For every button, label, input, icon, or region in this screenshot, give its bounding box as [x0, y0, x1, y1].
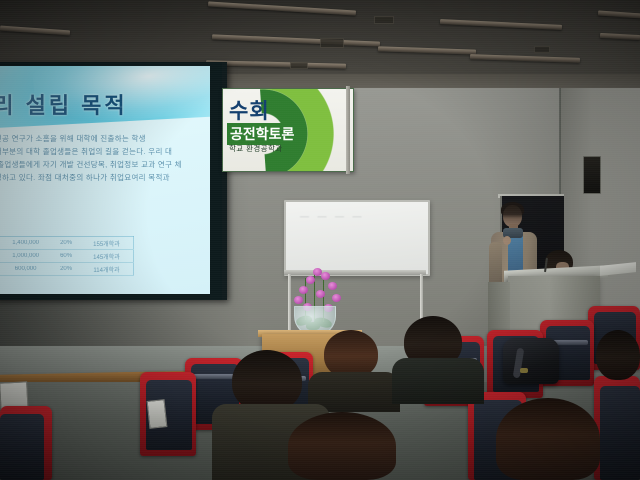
audience-head [496, 398, 600, 480]
table-cell: 60% [52, 250, 80, 263]
slide-body-line: 학과 전공 연구가 소홈을 위해 대학에 진출하는 학생 [0, 132, 210, 145]
presenter-hand [503, 236, 511, 245]
audience-head [288, 412, 396, 480]
table-row: 1,400,000 20% 155개학과 [0, 237, 134, 250]
orchid-flower [321, 272, 330, 280]
table-row: 1,000,000 60% 145개학과 [0, 250, 134, 263]
seat-writing-tablet[interactable] [147, 399, 168, 429]
slide-body-line: 로 운영하고 있다. 좌점 대처중의 하나가 취업요여리 목적과 [0, 171, 210, 184]
lecture-hall-photo: 아리 설립 목적 학과 전공 연구가 소홈을 위해 대학에 진출하는 학생 과는… [0, 0, 640, 480]
table-cell: 600,000 [0, 263, 52, 276]
table-row: 600,000 20% 114개학과 [0, 263, 134, 276]
ceiling-vent [320, 38, 344, 48]
table-cell: 145개학과 [80, 250, 134, 263]
orchid-flower [332, 294, 341, 302]
whiteboard-marker-tray [284, 270, 426, 275]
orchid-flower [294, 296, 303, 304]
slide-body-line: 과는 대부분의 대학 졸업생들은 취업의 길을 걷는다. 우리 대 [0, 145, 210, 158]
audience-shoulders [392, 358, 484, 404]
orchid-flower [306, 276, 315, 284]
banner-title: 수회 [229, 95, 270, 125]
audience-head [232, 350, 302, 412]
seat-cushion[interactable] [0, 414, 44, 480]
table-cell: 1,000,000 [0, 250, 52, 263]
table-cell: 114개학과 [80, 263, 134, 276]
backpack[interactable] [503, 338, 559, 384]
seat-cushion[interactable] [600, 386, 640, 480]
banner-subtitle: 공전학토론 [227, 123, 297, 145]
table-cell: 155개학과 [80, 237, 134, 250]
wall-speaker-icon [583, 156, 601, 194]
ceiling-vent [374, 16, 394, 24]
ceiling-vent [534, 46, 550, 53]
orchid-flower [316, 290, 325, 298]
backpack-buckle [520, 368, 528, 373]
whiteboard-writing: — — — — [300, 211, 412, 223]
table-cell: 20% [52, 263, 80, 276]
orchid-flower [328, 282, 337, 290]
whiteboard: — — — — [284, 200, 430, 276]
audience-head [324, 330, 378, 378]
table-cell: 1,400,000 [0, 237, 52, 250]
slide-body-text: 학과 전공 연구가 소홈을 위해 대학에 진출하는 학생 과는 대부분의 대학 … [0, 132, 210, 184]
audience-head [596, 330, 640, 380]
table-cell: 20% [52, 237, 80, 250]
slide-title: 아리 설립 목적 [0, 88, 210, 120]
wall-banner: 수회 공전학토론 학교 환경공학과 [222, 88, 354, 172]
whiteboard-leg [288, 274, 291, 336]
projection-screen-frame: 아리 설립 목적 학과 전공 연구가 소홈을 위해 대학에 진출하는 학생 과는… [0, 62, 227, 300]
banner-pole [346, 86, 350, 174]
seat-rail [193, 374, 236, 379]
banner-department: 학교 환경공학과 [229, 143, 283, 154]
ceiling-vent [290, 62, 308, 69]
orchid-flower [299, 286, 308, 294]
slide-body-line: 행 및 졸업생들에게 자기 개발 건선당목, 취업정보 교과 연구 체 [0, 158, 210, 171]
projection-screen: 아리 설립 목적 학과 전공 연구가 소홈을 위해 대학에 진출하는 학생 과는… [0, 66, 210, 294]
slide-data-table: 1,400,000 20% 155개학과 1,000,000 60% 145개학… [0, 236, 134, 276]
